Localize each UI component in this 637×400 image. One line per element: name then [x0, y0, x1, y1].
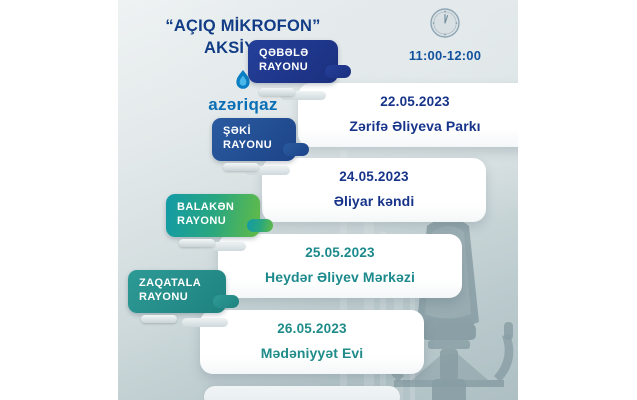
district-badge[interactable]: BALAKƏN RAYONU: [166, 194, 260, 237]
district-badge[interactable]: QƏBƏLƏ RAYONU: [248, 40, 338, 83]
link-pill-front: [141, 315, 177, 323]
event-card[interactable]: 22.05.2023 Zərifə Əliyeva Parkı: [298, 83, 518, 147]
screenshot-canvas: “AÇIQ MİKROFON” AKSİYASI azəriqaz: [0, 0, 637, 400]
badge-line-2: RAYONU: [223, 139, 285, 153]
event-date: 22.05.2023: [312, 94, 518, 109]
link-pill-front: [223, 163, 259, 171]
badge-line-1: ŞƏKİ: [223, 125, 251, 137]
event-date: 26.05.2023: [214, 321, 410, 336]
event-card[interactable]: 24.05.2023 Əliyar kəndi: [262, 158, 486, 222]
event-place: Mədəniyyət Evi: [214, 345, 410, 361]
next-event-card-partial: [204, 386, 400, 400]
clock-icon: [428, 6, 462, 40]
badge-line-2: RAYONU: [259, 61, 327, 75]
badge-line-1: BALAKƏN: [177, 201, 234, 213]
badge-line-2: RAYONU: [177, 215, 249, 229]
event-place: Zərifə Əliyeva Parkı: [312, 118, 518, 134]
event-card[interactable]: 25.05.2023 Heydər Əliyev Mərkəzi: [218, 234, 462, 298]
badge-line-1: ZAQATALA: [139, 277, 201, 289]
link-pill-back: [182, 318, 228, 327]
event-place: Heydər Əliyev Mərkəzi: [232, 269, 448, 285]
badge-line-2: RAYONU: [139, 291, 215, 305]
campaign-poster: “AÇIQ MİKROFON” AKSİYASI azəriqaz: [118, 0, 518, 400]
event-date: 24.05.2023: [276, 169, 472, 184]
event-date: 25.05.2023: [232, 245, 448, 260]
event-card[interactable]: 26.05.2023 Mədəniyyət Evi: [200, 310, 424, 374]
time-range: 11:00-12:00: [390, 48, 500, 63]
district-badge[interactable]: ZAQATALA RAYONU: [128, 270, 226, 313]
time-block: 11:00-12:00: [390, 6, 500, 63]
badge-line-1: QƏBƏLƏ: [259, 47, 309, 59]
link-pill-front: [179, 239, 215, 247]
title-line-1: “AÇIQ MİKROFON”: [118, 16, 368, 38]
district-badge[interactable]: ŞƏKİ RAYONU: [212, 118, 296, 161]
event-place: Əliyar kəndi: [276, 193, 472, 209]
link-pill-front: [259, 88, 295, 96]
